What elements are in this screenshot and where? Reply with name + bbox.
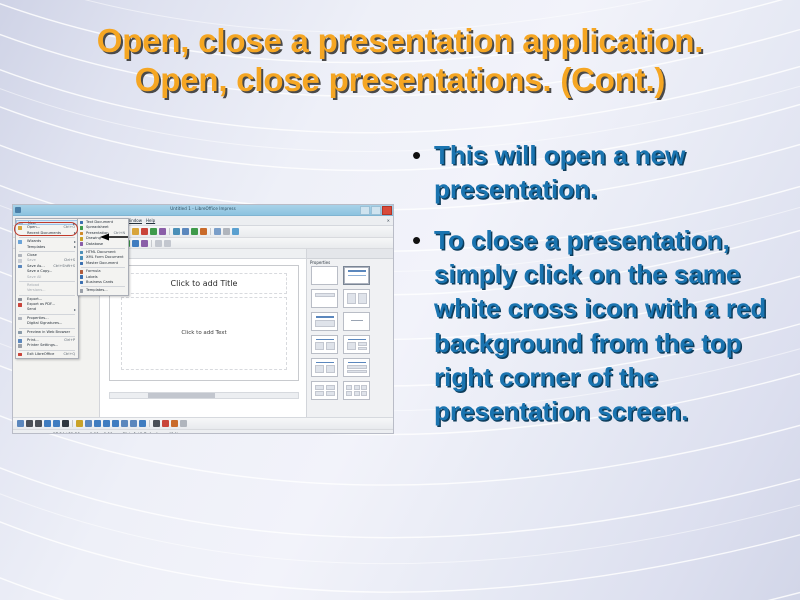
draw-icon-block-arrows[interactable] [112, 420, 119, 427]
toolbar-icon-image[interactable] [141, 228, 148, 235]
toolbar-icon-duplicate-slide[interactable] [223, 228, 230, 235]
draw-icon-stars[interactable] [139, 420, 146, 427]
menu-separator [19, 314, 75, 315]
draw-icon-ellipse[interactable] [53, 420, 60, 427]
toolbar-icon-master[interactable] [191, 228, 198, 235]
formula-icon [80, 270, 84, 274]
exit-icon [18, 353, 22, 357]
menu-item-versions: Versions... [16, 288, 78, 293]
text-document-icon [80, 221, 84, 225]
toolbar-icon-snap-guides[interactable] [164, 240, 171, 247]
layout-thumb-six-content[interactable] [343, 381, 370, 400]
submenu-arrow-icon [74, 246, 76, 248]
draw-icon-curve[interactable] [76, 420, 83, 427]
labels-icon [80, 275, 84, 279]
sidebar-section-layouts[interactable]: Layouts [307, 259, 393, 266]
pdf-icon [18, 303, 22, 307]
menu-separator [19, 281, 75, 282]
draw-icon-symbol-shapes[interactable] [103, 420, 110, 427]
toolbar-icon-textbox[interactable] [159, 228, 166, 235]
menu-separator [19, 295, 75, 296]
toolbar-icon-display-views[interactable] [182, 228, 189, 235]
window-title: Untitled 1 - LibreOffice Impress [13, 206, 393, 211]
submenu-arrow-icon [73, 223, 75, 225]
menu-item-templates[interactable]: Templates [16, 245, 78, 250]
drawing-toolbar [13, 417, 393, 429]
printer-settings-icon [18, 344, 22, 348]
maximize-button[interactable] [371, 206, 381, 215]
toolbar-separator [210, 228, 211, 235]
submenu-arrow-icon [74, 241, 76, 243]
browser-icon [18, 331, 22, 335]
status-size: 0.00 x 0.00 [90, 432, 113, 434]
title-placeholder[interactable]: Click to add Title [121, 273, 286, 294]
toolbar-icon-table[interactable] [132, 228, 139, 235]
menu-separator [81, 267, 125, 268]
status-slide-info: Slide 1 / 1 Default [123, 432, 159, 434]
submenu-arrow-icon [74, 309, 76, 311]
page-title: Open, close a presentation application. … [0, 22, 800, 99]
draw-icon-rectangle[interactable] [44, 420, 51, 427]
bullet-dot-icon: • [408, 223, 434, 257]
minimize-button[interactable] [360, 206, 370, 215]
toolbar-separator [149, 420, 150, 427]
menu-item-printer-settings[interactable]: Printer Settings... [16, 343, 78, 348]
menu-item-save-all: Save All [16, 275, 78, 280]
slide-edit-area[interactable]: Click to add Title Click to add Text [101, 259, 307, 403]
draw-icon-align[interactable] [171, 420, 178, 427]
layout-thumbnail-grid [311, 266, 371, 400]
drawing-icon [80, 237, 84, 241]
draw-icon-3d-objects[interactable] [153, 420, 160, 427]
menu-separator [19, 336, 75, 337]
layout-thumb-centered-text[interactable] [343, 312, 370, 331]
open-icon [18, 226, 22, 230]
menu-separator [19, 251, 75, 252]
menu-item-digital-signatures[interactable]: Digital Signatures... [16, 321, 78, 326]
save-as-icon [18, 265, 22, 269]
properties-sidebar: Properties Layouts [306, 249, 393, 417]
toolbar-separator [151, 240, 152, 247]
templates-icon [80, 289, 84, 293]
submenu-item-database[interactable]: Database [78, 242, 128, 247]
spreadsheet-icon [80, 226, 84, 230]
toolbar-icon-transition[interactable] [132, 240, 139, 247]
layout-thumb-two-content-content[interactable] [311, 358, 338, 377]
submenu-item-master-document[interactable]: Master Document [78, 261, 128, 266]
draw-icon-callouts[interactable] [130, 420, 137, 427]
draw-icon-textbox[interactable] [62, 420, 69, 427]
menu-item-recent-documents[interactable]: Recent Documents [16, 231, 78, 236]
sidebar-header: Properties [307, 249, 393, 259]
view-tabs: Handout Slide Sorter [99, 249, 309, 259]
toolbar-icon-animation[interactable] [141, 240, 148, 247]
close-button[interactable] [382, 206, 392, 215]
toolbar-separator [169, 228, 170, 235]
draw-icon-rotate[interactable] [162, 420, 169, 427]
save-icon [18, 259, 22, 263]
html-document-icon [80, 251, 84, 255]
window-titlebar: Untitled 1 - LibreOffice Impress [13, 205, 393, 216]
presentation-icon [80, 232, 84, 236]
layout-thumb-title-chart[interactable] [311, 312, 338, 331]
menu-item-preview-in-web-browser[interactable]: Preview in Web Browser [16, 330, 78, 335]
properties-icon [18, 317, 22, 321]
database-icon [80, 242, 84, 246]
toolbar-icon-grid[interactable] [173, 228, 180, 235]
submenu-item-business-cards[interactable]: Business Cards [78, 280, 128, 285]
export-icon [18, 298, 22, 302]
workspace: Handout Slide Sorter Click to add Title … [13, 249, 393, 417]
title-line-2: Open, close presentations. (Cont.) [0, 61, 800, 100]
toolbar-icon-display-grid[interactable] [155, 240, 162, 247]
menu-separator [19, 350, 75, 351]
submenu-item-templates[interactable]: Templates... [78, 288, 128, 293]
business-cards-icon [80, 281, 84, 285]
bullet-text: This will open a new presentation. [434, 138, 780, 207]
annotation-arrow [99, 233, 129, 241]
menu-separator [81, 248, 125, 249]
draw-icon-select[interactable] [17, 420, 24, 427]
list-item: • To close a presentation, simply click … [408, 223, 780, 429]
layout-thumb-two-content[interactable] [343, 289, 370, 308]
toolbar-icon-start-slideshow[interactable] [200, 228, 207, 235]
layout-thumb-blank[interactable] [311, 266, 338, 285]
layout-thumb-title-only[interactable] [311, 289, 338, 308]
layout-thumb-two-content-bottom[interactable] [311, 335, 338, 354]
scrollbar-thumb[interactable] [148, 393, 216, 398]
new-submenu: Text Document Spreadsheet Presentation C… [77, 218, 129, 296]
draw-icon-line[interactable] [26, 420, 33, 427]
toolbar-icon-new-slide[interactable] [214, 228, 221, 235]
bullet-text: To close a presentation, simply click on… [434, 223, 780, 429]
menu-separator [19, 237, 75, 238]
title-line-1: Open, close a presentation application. [0, 22, 800, 61]
close-doc-icon [18, 254, 22, 258]
bullet-dot-icon: • [408, 138, 434, 172]
menu-item-exit-libreoffice[interactable]: Exit LibreOffice Ctrl+Q [16, 352, 78, 357]
list-item: • This will open a new presentation. [408, 138, 780, 207]
file-menu-dropdown: New Open... Ctrl+O Recent Documents Wiza… [15, 218, 79, 359]
toolbar-icon-layout[interactable] [232, 228, 239, 235]
status-position: 17.34 / 21.36 [53, 432, 80, 434]
slide-surface[interactable]: Click to add Title Click to add Text [109, 265, 299, 381]
document-close-icon[interactable]: ✕ [387, 218, 390, 223]
window-controls [360, 206, 392, 215]
toolbar-separator [72, 420, 73, 427]
statusbar: 17.34 / 21.36 0.00 x 0.00 Slide 1 / 1 De… [13, 429, 393, 434]
master-document-icon [80, 262, 84, 266]
wizards-icon [18, 240, 22, 244]
bullet-list: • This will open a new presentation. • T… [408, 138, 780, 445]
menu-help[interactable]: Help [146, 218, 155, 223]
menu-separator [19, 328, 75, 329]
layout-thumb-four-content[interactable] [311, 381, 338, 400]
layout-thumb-title-two-rows[interactable] [343, 358, 370, 377]
xml-form-icon [80, 256, 84, 260]
text-placeholder[interactable]: Click to add Text [121, 297, 286, 370]
embedded-libreoffice-screenshot: Untitled 1 - LibreOffice Impress File Ed… [12, 204, 394, 434]
layout-thumb-title-content[interactable] [343, 266, 370, 285]
print-icon [18, 339, 22, 343]
layout-thumb-content-two-right[interactable] [343, 335, 370, 354]
submenu-arrow-icon [74, 232, 76, 234]
horizontal-scrollbar[interactable] [109, 392, 299, 399]
draw-icon-flowchart[interactable] [121, 420, 128, 427]
draw-icon-connector[interactable] [85, 420, 92, 427]
draw-icon-arrow[interactable] [35, 420, 42, 427]
menu-item-send[interactable]: Send [16, 307, 78, 312]
draw-icon-basic-shapes[interactable] [94, 420, 101, 427]
draw-icon-arrange[interactable] [180, 420, 187, 427]
menu-separator [81, 286, 125, 287]
toolbar-icon-chart[interactable] [150, 228, 157, 235]
slide-canvas: Open, close a presentation application. … [0, 0, 800, 600]
status-zoom[interactable]: 49 % [168, 432, 178, 434]
